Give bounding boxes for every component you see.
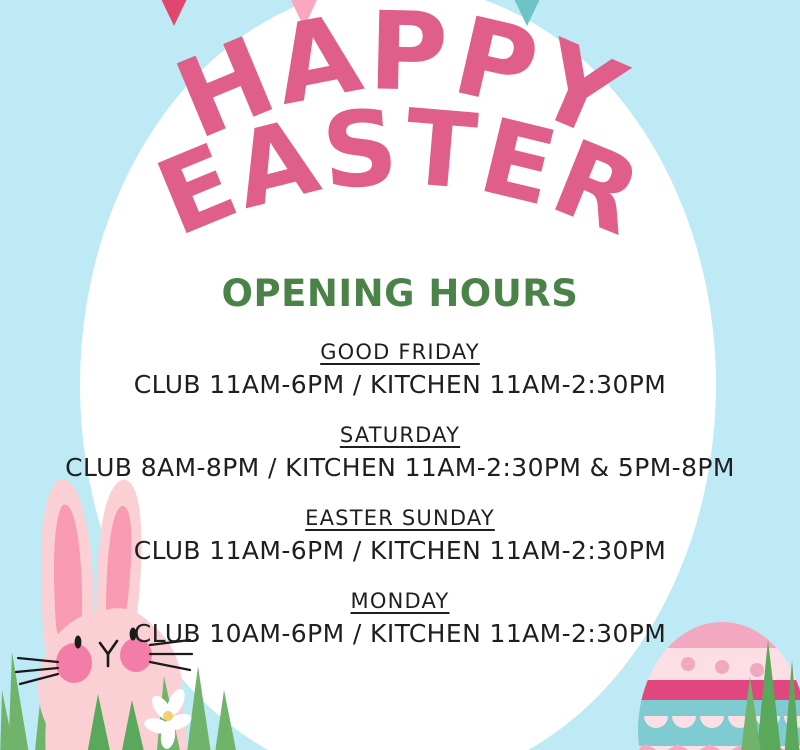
poster-title: HAPPY EASTER [90,14,710,274]
easter-opening-hours-poster: HAPPY EASTER OPENING HOURS GOOD FRIDAY C… [0,0,800,750]
schedule-day-label: SATURDAY [0,423,800,447]
schedule-hours-value: CLUB 8AM-8PM / KITCHEN 11AM-2:30PM & 5PM… [0,453,800,482]
poster-content: HAPPY EASTER OPENING HOURS GOOD FRIDAY C… [0,0,800,750]
schedule-entry-monday: MONDAY CLUB 10AM-6PM / KITCHEN 11AM-2:30… [0,589,800,648]
schedule-hours-value: CLUB 10AM-6PM / KITCHEN 11AM-2:30PM [0,619,800,648]
schedule-day-label: EASTER SUNDAY [0,506,800,530]
schedule-day-label: GOOD FRIDAY [0,340,800,364]
schedule-day-label: MONDAY [0,589,800,613]
schedule-entry-good-friday: GOOD FRIDAY CLUB 11AM-6PM / KITCHEN 11AM… [0,340,800,399]
schedule-hours-value: CLUB 11AM-6PM / KITCHEN 11AM-2:30PM [0,536,800,565]
schedule-entry-saturday: SATURDAY CLUB 8AM-8PM / KITCHEN 11AM-2:3… [0,423,800,482]
schedule-entry-easter-sunday: EASTER SUNDAY CLUB 11AM-6PM / KITCHEN 11… [0,506,800,565]
title-arc-svg: HAPPY EASTER [90,14,710,274]
schedule-hours-value: CLUB 11AM-6PM / KITCHEN 11AM-2:30PM [0,370,800,399]
opening-hours-list: GOOD FRIDAY CLUB 11AM-6PM / KITCHEN 11AM… [0,340,800,662]
poster-subtitle: OPENING HOURS [222,272,579,315]
